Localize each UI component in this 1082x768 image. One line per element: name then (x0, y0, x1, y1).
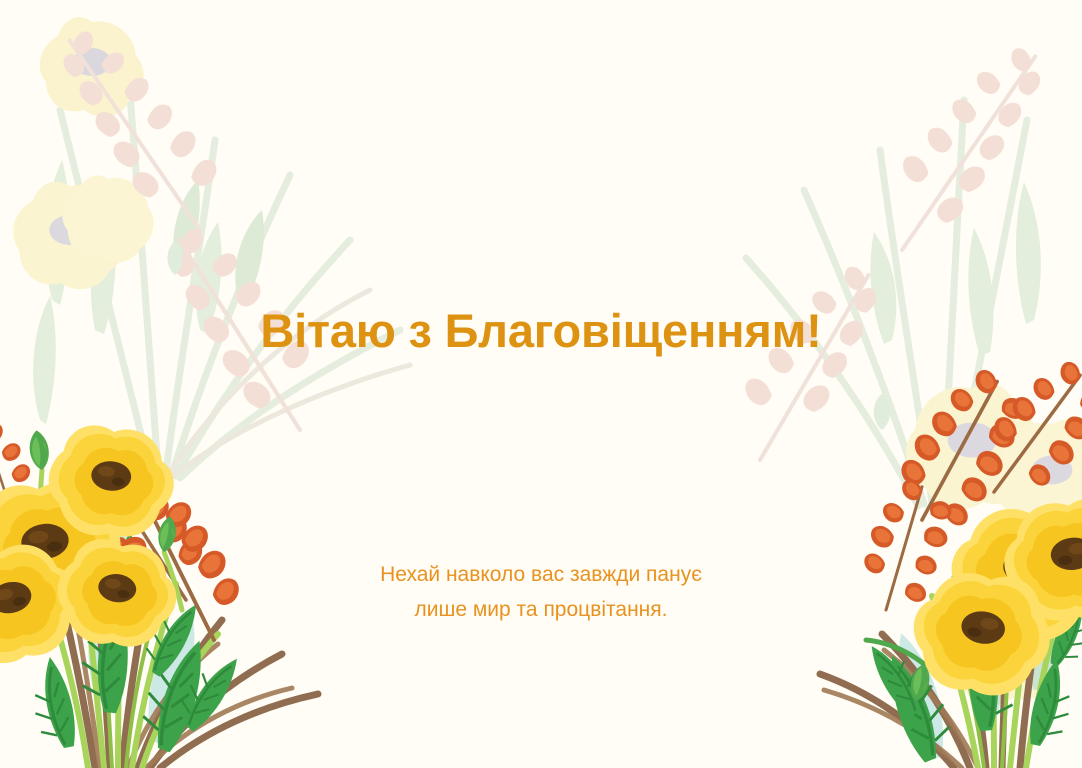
subtitle-line-1: Нехай навколо вас завжди панує (0, 558, 1082, 593)
greeting-card: Вітаю з Благовіщенням! Нехай навколо вас… (0, 0, 1082, 768)
text-block: Вітаю з Благовіщенням! Нехай навколо вас… (0, 0, 1082, 768)
subtitle-line-2: лише мир та процвітання. (0, 593, 1082, 628)
subtitle-message: Нехай навколо вас завжди панує лише мир … (0, 558, 1082, 628)
page-title: Вітаю з Благовіщенням! (0, 305, 1082, 357)
